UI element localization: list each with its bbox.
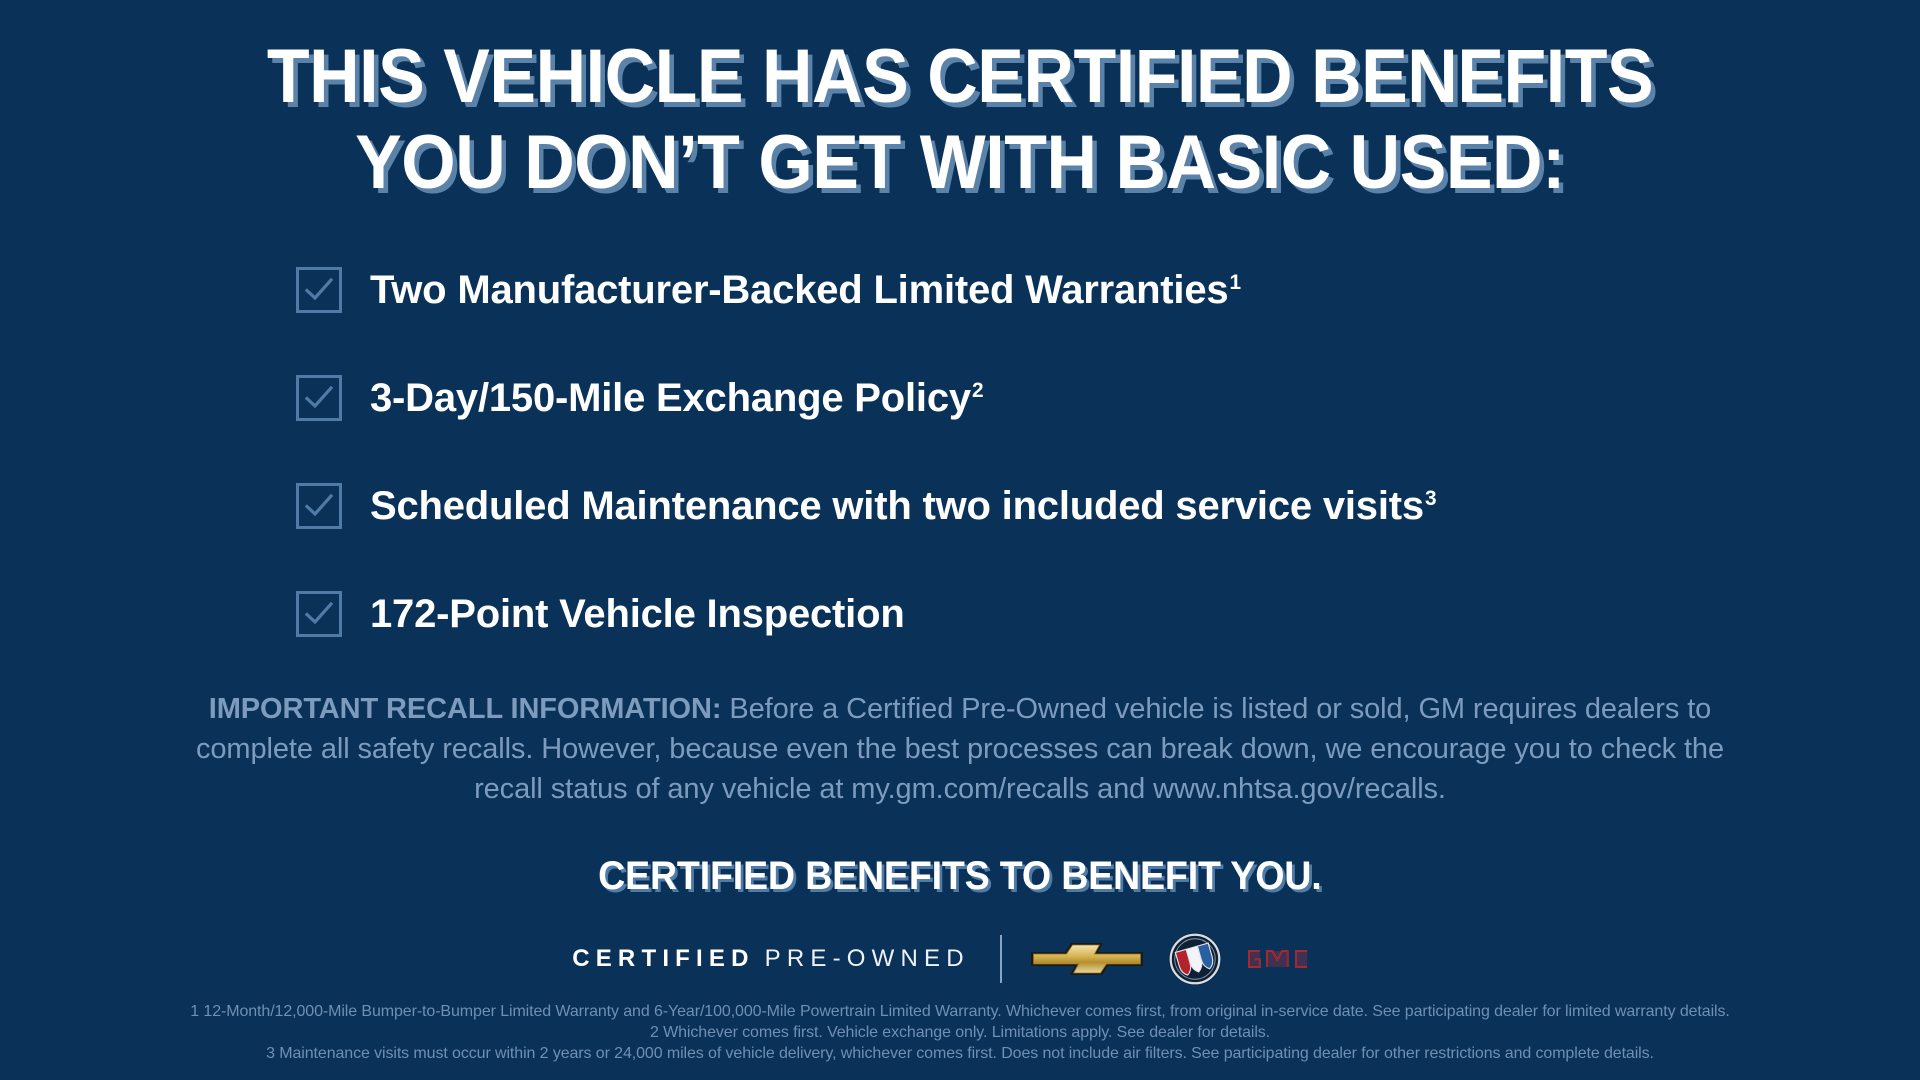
- list-item: 172-Point Vehicle Inspection: [0, 560, 1920, 668]
- footnote-marker: 1: [1229, 271, 1240, 294]
- footnote-1: 1 12-Month/12,000-Mile Bumper-to-Bumper …: [0, 1001, 1920, 1022]
- benefit-label: Two Manufacturer-Backed Limited Warranti…: [370, 267, 1241, 313]
- footnote-3: 3 Maintenance visits must occur within 2…: [0, 1043, 1920, 1064]
- benefit-label: 3-Day/150-Mile Exchange Policy2: [370, 375, 983, 421]
- footnote-marker: 2: [972, 379, 983, 402]
- lockup-divider: [1000, 935, 1002, 983]
- headline-line-1: THIS VEHICLE HAS CERTIFIED BENEFITS: [77, 34, 1843, 120]
- benefit-label: Scheduled Maintenance with two included …: [370, 483, 1436, 529]
- footnote-2: 2 Whichever comes first. Vehicle exchang…: [0, 1022, 1920, 1043]
- checkmark-icon: [301, 488, 337, 524]
- gmc-logo: [1244, 942, 1348, 976]
- lockup-certified-word: CERTIFIED: [572, 945, 754, 973]
- checkmark-icon: [301, 272, 337, 308]
- list-item: 3-Day/150-Mile Exchange Policy2: [0, 344, 1920, 452]
- footnotes: 1 12-Month/12,000-Mile Bumper-to-Bumper …: [0, 1001, 1920, 1064]
- benefit-label: 172-Point Vehicle Inspection: [370, 591, 906, 637]
- recall-heading: IMPORTANT RECALL INFORMATION:: [209, 693, 722, 725]
- benefit-text: Scheduled Maintenance with two included …: [370, 484, 1424, 528]
- footnote-marker: 3: [1425, 487, 1436, 510]
- checkbox-checked[interactable]: [296, 375, 342, 421]
- cpo-benefits-slide: THIS VEHICLE HAS CERTIFIED BENEFITS YOU …: [0, 0, 1920, 1080]
- tagline-text: CERTIFIED BENEFITS TO BENEFIT YOU.: [598, 852, 1321, 900]
- benefit-text: 172-Point Vehicle Inspection: [370, 592, 905, 636]
- list-item: Scheduled Maintenance with two included …: [0, 452, 1920, 560]
- buick-logo: [1168, 932, 1222, 986]
- checkbox-checked[interactable]: [296, 591, 342, 637]
- brand-lockup: CERTIFIED PRE-OWNED: [0, 932, 1920, 986]
- benefits-list: Two Manufacturer-Backed Limited Warranti…: [0, 236, 1920, 668]
- chevrolet-logo: [1028, 937, 1146, 981]
- benefit-text: Two Manufacturer-Backed Limited Warranti…: [370, 268, 1228, 312]
- benefit-text: 3-Day/150-Mile Exchange Policy: [370, 376, 971, 420]
- page-title: THIS VEHICLE HAS CERTIFIED BENEFITS YOU …: [0, 34, 1920, 206]
- tagline: CERTIFIED BENEFITS TO BENEFIT YOU.: [0, 852, 1920, 900]
- checkmark-icon: [301, 596, 337, 632]
- checkbox-checked[interactable]: [296, 483, 342, 529]
- checkmark-icon: [301, 380, 337, 416]
- list-item: Two Manufacturer-Backed Limited Warranti…: [0, 236, 1920, 344]
- checkbox-checked[interactable]: [296, 267, 342, 313]
- lockup-preowned-word: PRE-OWNED: [765, 945, 970, 973]
- recall-information: IMPORTANT RECALL INFORMATION: Before a C…: [160, 689, 1760, 809]
- headline-line-2: YOU DON’T GET WITH BASIC USED:: [77, 120, 1843, 206]
